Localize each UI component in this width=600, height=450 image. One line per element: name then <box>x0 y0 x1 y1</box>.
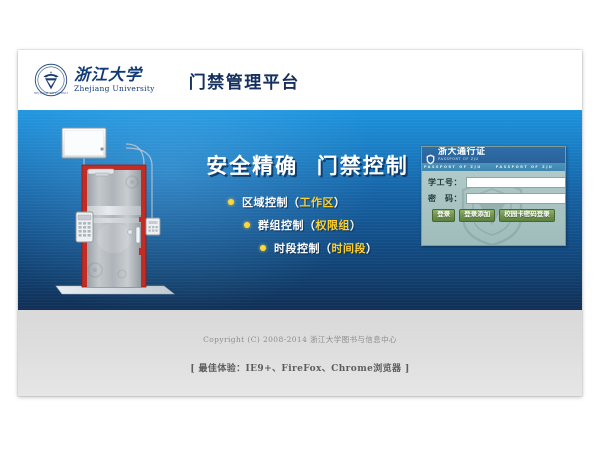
university-seal-icon: ZHEJIANG UNIVERSITY <box>34 63 68 97</box>
login-brand-en: PASSPORT OF ZJU <box>438 158 486 162</box>
copyright-text: Copyright (C) 2008-2014 浙江大学图书与信息中心 <box>203 334 397 345</box>
login-button-row: 登录 登录添加 校园卡密码登录 <box>428 209 559 222</box>
feature-label: 区域控制（ <box>242 194 300 210</box>
banner-slogan: 安全精确 门禁控制 <box>200 150 415 180</box>
site-header: ZHEJIANG UNIVERSITY 浙江大学 Zhejiang Univer… <box>18 50 582 110</box>
feature-highlight: 工作区 <box>300 194 335 210</box>
bullet-dot-icon <box>244 222 250 228</box>
feature-tail: ） <box>350 217 362 233</box>
feature-item-group: 群组控制（权限组） <box>200 217 415 233</box>
feature-item-timeslot: 时段控制（时间段） <box>200 240 415 256</box>
login-button[interactable]: 登录 <box>432 209 455 222</box>
bullet-dot-icon <box>260 245 266 251</box>
site-footer: Copyright (C) 2008-2014 浙江大学图书与信息中心 [ 最佳… <box>18 310 582 396</box>
feature-item-area: 区域控制（工作区） <box>200 194 415 210</box>
username-label: 学工号： <box>428 177 462 188</box>
svg-text:ZHEJIANG UNIVERSITY: ZHEJIANG UNIVERSITY <box>34 91 68 95</box>
login-brand-cn: 浙大通行证 <box>438 148 486 157</box>
form-row-username: 学工号： <box>428 177 559 188</box>
browser-compat-note: [ 最佳体验：IE9+、FireFox、Chrome浏览器 ] <box>190 361 409 374</box>
access-control-door-illustration <box>40 120 190 305</box>
banner-slogan-block: 安全精确 门禁控制 区域控制（工作区） 群组控制（权限组） 时段控制（时间段） <box>200 150 415 263</box>
passport-strip-text: PASSPORT OF ZJU <box>424 165 482 169</box>
campus-card-login-button[interactable]: 校园卡密码登录 <box>499 209 555 222</box>
password-input[interactable] <box>466 193 566 204</box>
feature-tail: ） <box>366 240 378 256</box>
login-form: 学工号： 密 码： 登录 登录添加 校园卡密码登录 <box>422 171 565 222</box>
hero-banner: 安全精确 门禁控制 区域控制（工作区） 群组控制（权限组） 时段控制（时间段） <box>18 110 582 310</box>
form-row-password: 密 码： <box>428 193 559 204</box>
app-page: ZHEJIANG UNIVERSITY 浙江大学 Zhejiang Univer… <box>18 50 582 396</box>
login-add-button[interactable]: 登录添加 <box>459 209 495 222</box>
university-name: 浙江大学 Zhejiang University <box>74 67 155 93</box>
feature-label: 群组控制（ <box>258 217 316 233</box>
university-name-en: Zhejiang University <box>74 85 155 93</box>
login-panel: 浙大通行证 PASSPORT OF ZJU PASSPORT OF ZJU PA… <box>421 146 566 246</box>
feature-highlight: 权限组 <box>316 217 351 233</box>
feature-highlight: 时间段 <box>332 240 367 256</box>
feature-label: 时段控制（ <box>274 240 332 256</box>
password-label: 密 码： <box>428 193 462 204</box>
bullet-dot-icon <box>228 199 234 205</box>
university-name-cn: 浙江大学 <box>74 67 155 83</box>
feature-tail: ） <box>334 194 346 210</box>
passport-strip-text: PASSPORT OF ZJU <box>496 165 554 169</box>
page-title: 门禁管理平台 <box>189 68 300 93</box>
shield-icon <box>426 150 435 161</box>
banner-feature-list: 区域控制（工作区） 群组控制（权限组） 时段控制（时间段） <box>200 194 415 256</box>
university-logo[interactable]: ZHEJIANG UNIVERSITY 浙江大学 Zhejiang Univer… <box>34 63 155 97</box>
passport-strip: PASSPORT OF ZJU PASSPORT OF ZJU PASSPORT… <box>422 163 565 171</box>
username-input[interactable] <box>466 177 566 188</box>
login-panel-header: 浙大通行证 PASSPORT OF ZJU <box>422 147 565 163</box>
